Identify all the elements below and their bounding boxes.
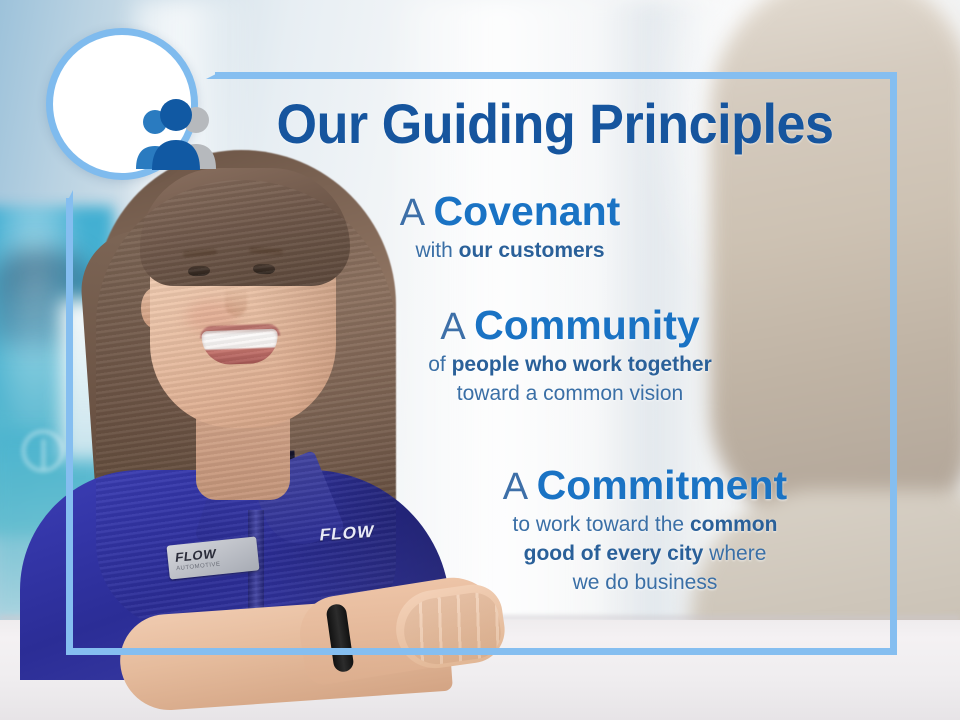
principle-subtext-line: good of every city where bbox=[400, 539, 890, 568]
principle-covenant: A Covenant with our customers bbox=[300, 188, 720, 265]
principle-heading: A Community bbox=[340, 302, 800, 350]
subtext-plain: we do business bbox=[573, 571, 718, 594]
principle-commitment: A Commitment to work toward the commongo… bbox=[400, 462, 890, 597]
subtext-plain: to work toward the bbox=[513, 513, 690, 536]
principle-keyword: Commitment bbox=[537, 462, 788, 508]
principle-subtext-line: with our customers bbox=[300, 236, 720, 265]
subtext-emphasis: our customers bbox=[459, 239, 605, 262]
subtext-emphasis: good of every city bbox=[524, 542, 704, 565]
principle-keyword: Community bbox=[474, 302, 700, 348]
principle-community: A Community of people who work togethert… bbox=[340, 302, 800, 408]
page-title: Our Guiding Principles bbox=[239, 94, 871, 154]
guiding-principles-graphic: FLOW FLOW AUTOMOTIVE bbox=[0, 0, 960, 720]
subtext-emphasis: people who work together bbox=[452, 353, 712, 376]
subtext-plain: where bbox=[703, 542, 766, 565]
principle-heading: A Commitment bbox=[400, 462, 890, 510]
principle-subtext: with our customers bbox=[300, 236, 720, 265]
principle-subtext: of people who work togethertoward a comm… bbox=[340, 350, 800, 408]
principle-subtext-line: to work toward the common bbox=[400, 510, 890, 539]
principle-subtext-line: we do business bbox=[400, 568, 890, 597]
principle-subtext-line: toward a common vision bbox=[340, 379, 800, 408]
principle-article: A bbox=[440, 306, 474, 348]
principle-heading: A Covenant bbox=[300, 188, 720, 236]
subtext-plain: of bbox=[428, 353, 451, 376]
principle-article: A bbox=[503, 466, 537, 508]
subtext-plain: toward a common vision bbox=[457, 382, 683, 405]
principle-keyword: Covenant bbox=[434, 188, 621, 234]
text-content: Our Guiding Principles A Covenant with o… bbox=[0, 0, 960, 720]
principle-article: A bbox=[400, 192, 434, 234]
subtext-plain: with bbox=[415, 239, 458, 262]
principle-subtext-line: of people who work together bbox=[340, 350, 800, 379]
principle-subtext: to work toward the commongood of every c… bbox=[400, 510, 890, 597]
subtext-emphasis: common bbox=[690, 513, 778, 536]
